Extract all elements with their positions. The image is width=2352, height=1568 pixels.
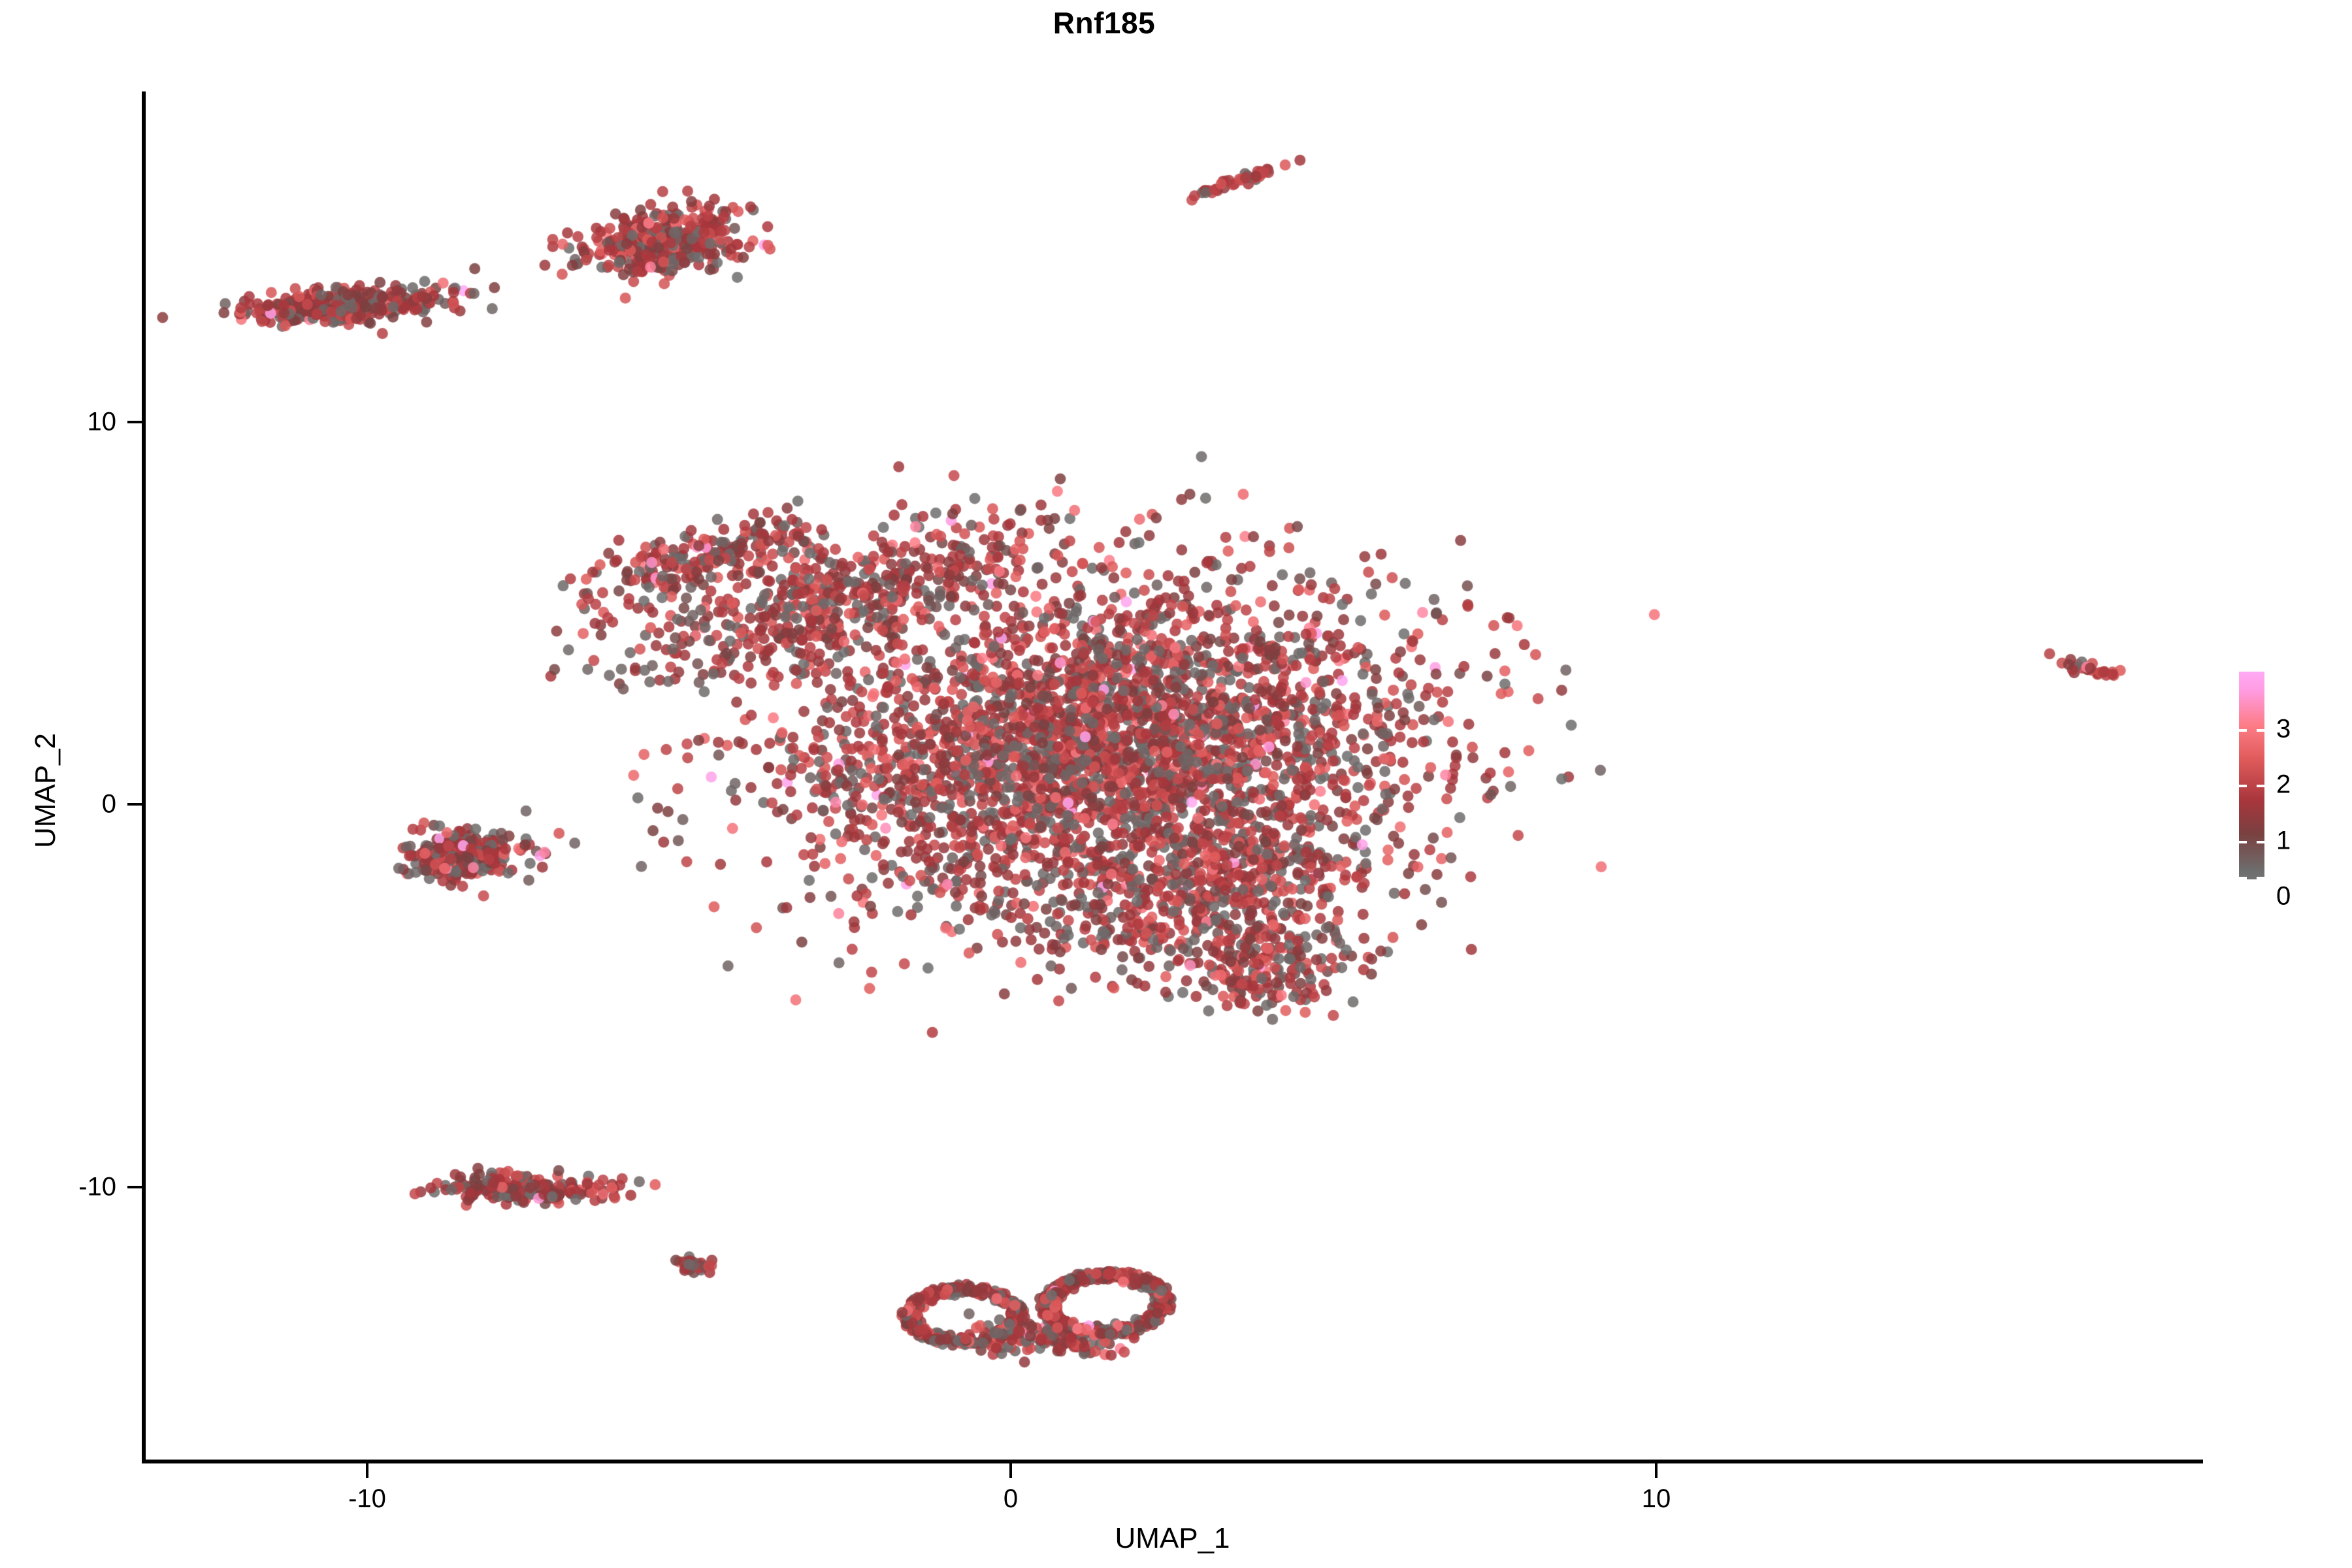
umap-scatter-plot	[144, 91, 2203, 1462]
y-tick-mark-2	[127, 803, 142, 806]
legend-tick-2-left	[2239, 785, 2247, 787]
legend-label-1: 1	[2276, 826, 2291, 856]
y-tick-label-1: 10	[0, 408, 116, 437]
plot-panel	[144, 91, 2203, 1462]
x-axis-line	[142, 1460, 2203, 1463]
x-tick-mark-2	[1009, 1463, 1012, 1478]
legend-label-3: 3	[2276, 715, 2291, 744]
legend-tick-2-right	[2257, 785, 2264, 787]
y-axis-title: UMAP_2	[29, 562, 62, 1019]
legend-label-2: 2	[2276, 770, 2291, 800]
y-axis-line	[142, 91, 146, 1463]
x-tick-label-1: -10	[348, 1484, 386, 1514]
x-tick-mark-3	[1655, 1463, 1658, 1478]
y-tick-mark-3	[127, 1186, 142, 1188]
x-tick-mark-1	[366, 1463, 368, 1478]
legend-tick-0-right	[2257, 877, 2264, 879]
legend-tick-1-right	[2257, 841, 2264, 843]
legend-tick-3-left	[2239, 729, 2247, 732]
page-title: Rnf185	[0, 5, 2208, 41]
chart-root: Rnf185 -10 0 10 10 0 -10 UMAP_1 UMAP_2 3…	[0, 0, 2352, 1568]
x-tick-label-2: 0	[1004, 1484, 1018, 1514]
y-tick-mark-1	[127, 421, 142, 423]
legend-tick-3-right	[2257, 729, 2264, 732]
legend-tick-0-left	[2239, 877, 2247, 879]
y-tick-label-3: -10	[0, 1173, 116, 1202]
legend-tick-1-left	[2239, 841, 2247, 843]
legend-label-0: 0	[2276, 882, 2291, 911]
x-tick-label-3: 10	[1642, 1484, 1671, 1514]
legend-colorbar	[2239, 672, 2264, 879]
x-axis-title: UMAP_1	[142, 1522, 2203, 1555]
